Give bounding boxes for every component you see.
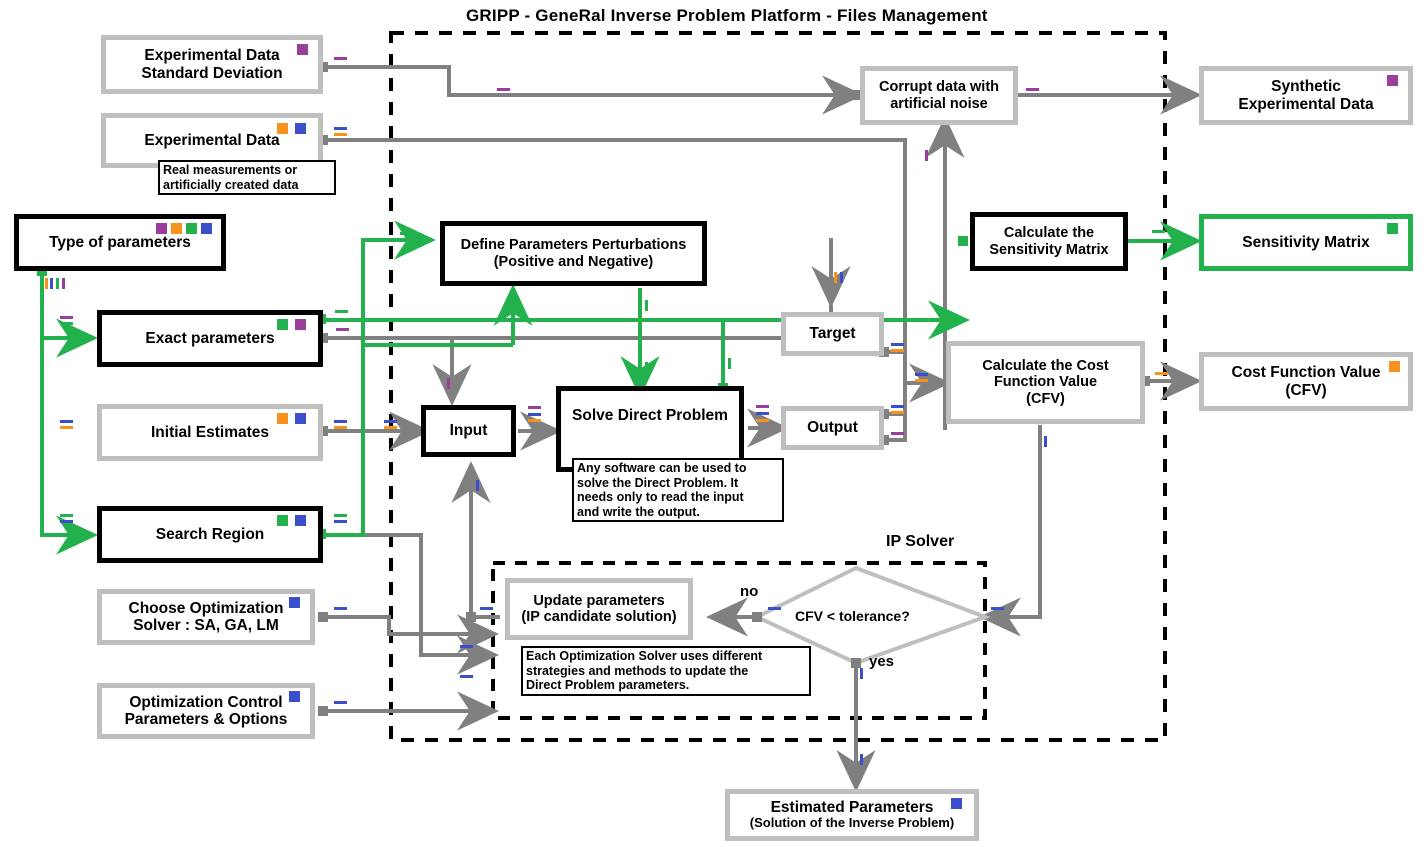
marker-green	[60, 322, 73, 325]
marker-purple	[891, 432, 904, 435]
marker-blue	[528, 413, 541, 416]
marker-blue	[334, 127, 347, 130]
node-estimated-parameters[interactable]: Estimated Parameters (Solution of the In…	[725, 789, 979, 841]
chip-orange	[277, 123, 288, 134]
marker-blue	[915, 373, 928, 376]
marker-orange	[384, 426, 397, 429]
marker-orange	[60, 426, 73, 429]
chip-green	[1387, 223, 1398, 234]
marker-blue	[756, 412, 769, 415]
marker-blue	[768, 607, 781, 610]
marker-orange	[334, 426, 347, 429]
marker-blue	[860, 668, 863, 679]
marker-blue	[60, 520, 73, 523]
marker-blue	[50, 278, 53, 289]
marker-orange	[756, 419, 769, 422]
chip-green	[186, 223, 197, 234]
marker-blue	[60, 420, 73, 423]
port-decision-no	[752, 612, 762, 622]
marker-blue	[334, 420, 347, 423]
marker-green	[1152, 230, 1165, 233]
chip-blue	[295, 515, 306, 526]
node-initial-estimates[interactable]: Initial Estimates	[97, 404, 323, 461]
marker-blue	[460, 675, 473, 678]
marker-purple	[528, 406, 541, 409]
marker-orange	[45, 278, 48, 289]
marker-purple	[447, 378, 450, 389]
marker-blue	[384, 420, 397, 423]
node-target[interactable]: Target	[781, 312, 884, 356]
chip-blue	[289, 597, 300, 608]
marker-green	[728, 358, 731, 369]
port-opt-control	[318, 706, 328, 716]
node-calculate-cost-function-value[interactable]: Calculate the Cost Function Value (CFV)	[946, 341, 1145, 424]
chip-blue	[201, 223, 212, 234]
node-choose-optimization-solver[interactable]: Choose Optimization Solver : SA, GA, LM	[97, 589, 315, 645]
node-synthetic-experimental-data[interactable]: Synthetic Experimental Data	[1199, 66, 1413, 125]
port-decision-yes	[851, 658, 861, 668]
marker-orange	[891, 349, 904, 352]
chip-blue	[951, 798, 962, 809]
decision-label: CFV < tolerance?	[795, 608, 910, 624]
node-corrupt-data[interactable]: Corrupt data with artificial noise	[860, 66, 1018, 125]
marker-green	[335, 310, 348, 313]
marker-blue	[891, 405, 904, 408]
callout-solve-direct-problem: Any software can be used to solve the Di…	[572, 458, 784, 522]
decision-branch-no: no	[740, 583, 758, 600]
marker-blue	[860, 754, 863, 765]
node-output[interactable]: Output	[781, 406, 884, 450]
node-experimental-data-std[interactable]: Experimental Data Standard Deviation	[101, 35, 323, 94]
callout-update-parameters: Each Optimization Solver uses different …	[521, 646, 811, 696]
marker-blue	[334, 607, 347, 610]
marker-orange	[915, 379, 928, 382]
chip-blue	[295, 123, 306, 134]
marker-blue	[476, 480, 479, 491]
node-optimization-control[interactable]: Optimization Control Parameters & Option…	[97, 683, 315, 739]
port-update-params-in	[466, 612, 476, 622]
chip-blue	[289, 691, 300, 702]
marker-purple	[925, 150, 928, 161]
chip-orange	[1389, 361, 1400, 372]
decision-branch-yes: yes	[869, 653, 894, 670]
marker-blue	[1044, 436, 1047, 447]
marker-purple	[334, 57, 347, 60]
node-type-of-parameters[interactable]: Type of parameters	[14, 214, 226, 271]
node-update-parameters[interactable]: Update parameters (IP candidate solution…	[505, 578, 693, 640]
chip-orange	[171, 223, 182, 234]
marker-green	[645, 362, 648, 373]
marker-blue	[334, 701, 347, 704]
marker-green	[400, 232, 413, 235]
marker-orange	[528, 419, 541, 422]
marker-orange	[334, 133, 347, 136]
marker-blue	[840, 272, 843, 283]
chip-orange	[277, 413, 288, 424]
chip-purple	[156, 223, 167, 234]
marker-blue	[334, 520, 347, 523]
group-label-ip-solver: IP Solver	[886, 533, 954, 551]
chip-purple	[295, 319, 306, 330]
node-search-region[interactable]: Search Region	[97, 506, 323, 563]
marker-blue	[991, 607, 1004, 610]
marker-purple	[497, 88, 510, 91]
port-sensitivity-in	[958, 236, 968, 246]
marker-orange	[1155, 372, 1168, 375]
marker-purple	[1026, 88, 1039, 91]
marker-orange	[834, 272, 837, 283]
port-choose-solver	[318, 612, 328, 622]
marker-blue	[480, 607, 493, 610]
node-sensitivity-matrix[interactable]: Sensitivity Matrix	[1199, 214, 1413, 271]
node-calculate-sensitivity-matrix[interactable]: Calculate the Sensitivity Matrix	[970, 212, 1128, 271]
chip-purple	[1387, 75, 1398, 86]
node-cost-function-value[interactable]: Cost Function Value (CFV)	[1199, 352, 1413, 411]
node-exact-parameters[interactable]: Exact parameters	[97, 310, 323, 367]
marker-purple	[756, 405, 769, 408]
node-input[interactable]: Input	[421, 405, 516, 457]
chip-green	[277, 515, 288, 526]
marker-green	[56, 278, 59, 289]
marker-green	[645, 300, 648, 311]
chip-blue	[295, 413, 306, 424]
marker-purple	[62, 278, 65, 289]
page-title: GRIPP - GeneRal Inverse Problem Platform…	[466, 6, 988, 26]
marker-blue	[891, 343, 904, 346]
marker-blue	[460, 645, 473, 648]
diagram-canvas: GRIPP - GeneRal Inverse Problem Platform…	[0, 0, 1428, 856]
node-define-parameters-perturbations[interactable]: Define Parameters Perturbations (Positiv…	[440, 221, 707, 286]
marker-green	[334, 514, 347, 517]
marker-purple	[60, 316, 73, 319]
marker-green	[518, 305, 521, 316]
chip-purple	[297, 44, 308, 55]
callout-experimental-data: Real measurements or artificially create…	[158, 160, 336, 195]
marker-purple	[336, 328, 349, 331]
marker-green	[60, 514, 73, 517]
chip-green	[277, 319, 288, 330]
marker-orange	[891, 411, 904, 414]
